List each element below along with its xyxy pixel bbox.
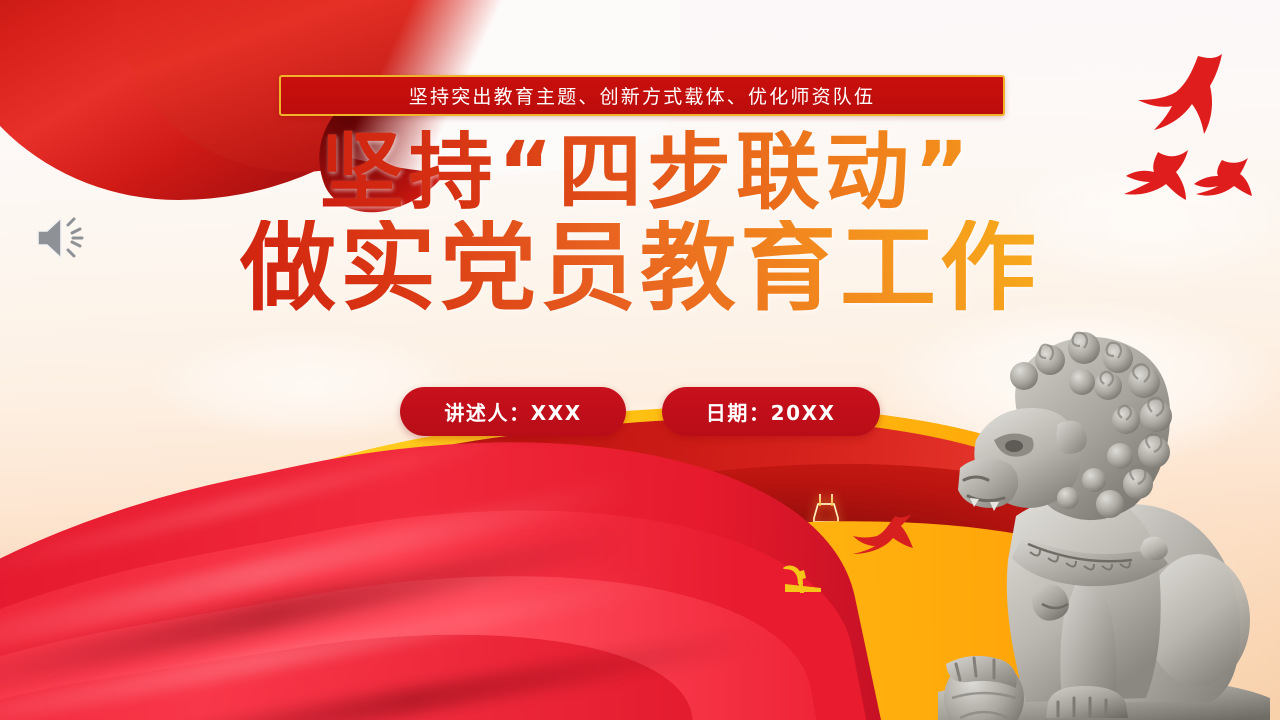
title-line-1: 坚持“四步联动” xyxy=(14,130,1280,214)
subtitle-banner: 坚持突出教育主题、创新方式载体、优化师资队伍 xyxy=(279,75,1005,116)
title-block: 坚持“四步联动” 做实党员教育工作 xyxy=(0,130,1280,316)
subtitle-text: 坚持突出教育主题、创新方式载体、优化师资队伍 xyxy=(409,82,875,109)
date-pill[interactable]: 日期：20XX xyxy=(662,387,880,436)
title-line-2: 做实党员教育工作 xyxy=(0,220,1280,316)
presentation-slide: 坚持突出教育主题、创新方式载体、优化师资队伍 坚持“四步联动” 做实党员教育工作… xyxy=(0,0,1280,720)
meta-pill-row: 讲述人：XXX 日期：20XX xyxy=(0,387,1280,436)
presenter-pill[interactable]: 讲述人：XXX xyxy=(400,387,625,436)
